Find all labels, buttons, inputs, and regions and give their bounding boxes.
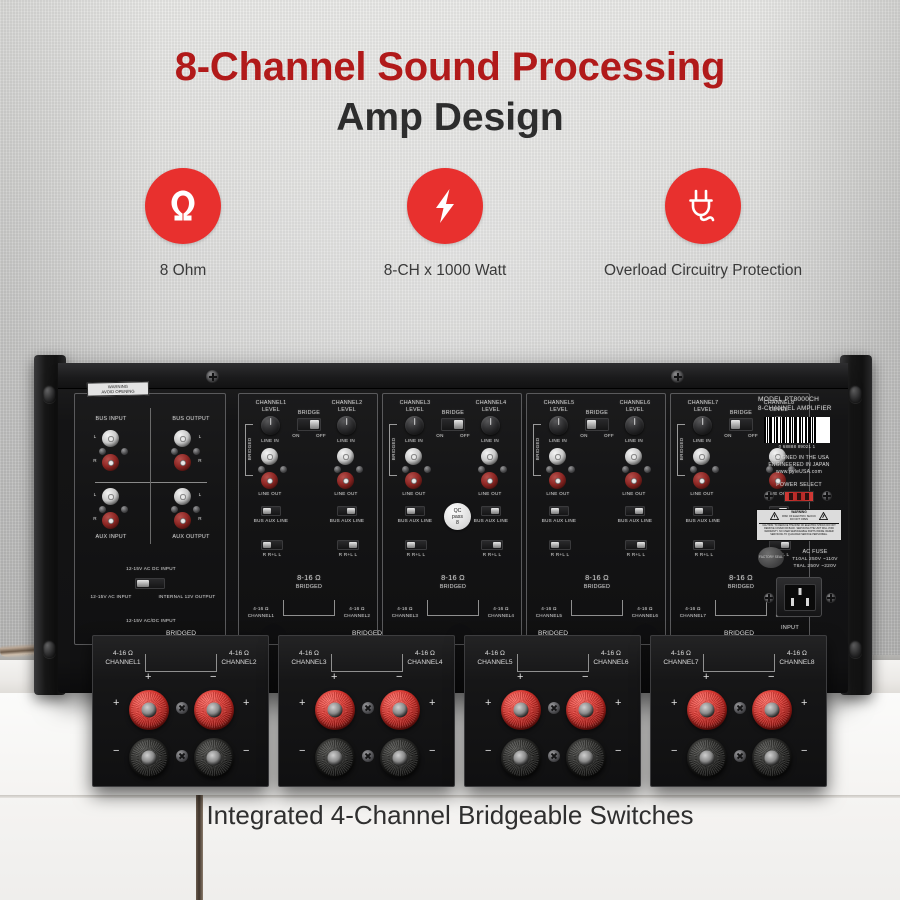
jack-screw [546,466,553,473]
terminal-screw [734,702,746,714]
bridged-plus-sign: + [145,672,151,683]
bus-aux-line-label: BUS AUX LINE [323,518,371,524]
line-in-label: LINE IN [545,438,571,444]
bridged-impedance-label: 8-16 Ω [561,574,633,583]
channel-6-line-out-jack[interactable] [625,472,642,489]
channel-5-level-knob[interactable] [549,416,568,435]
channel-7-negative-binding-post[interactable] [687,738,727,778]
acdc-input-label: 12-15V AC/DC INPUT [95,618,207,624]
left-impedance-label: 4-16 Ω [97,650,149,658]
right-channel-label: CHANNEL4 [399,659,451,667]
channel-1-plus-sign: + [113,698,119,709]
channel-4-line-in-jack[interactable] [481,448,498,465]
line-in-label: LINE IN [257,438,283,444]
left-channel-label: CHANNEL5 [469,659,521,667]
feature-overload-protection: Overload Circuitry Protection [588,168,818,281]
terminal-screw [734,750,746,762]
channel-1-level-knob[interactable] [261,416,280,435]
speaker-terminal-block-5-6: BRIDGED 4-16 Ω CHANNEL5 4-16 Ω CHANNEL6 … [464,635,641,787]
bridged-bracket-line [331,654,403,672]
aux-input-label: AUX INPUT [91,534,131,541]
jack-screw [258,466,265,473]
channel-3-minus-sign: − [299,746,305,757]
headline-line-1: 8-Channel Sound Processing [0,42,900,92]
headline-block: 8-Channel Sound Processing Amp Design [0,42,900,144]
line-out-label: LINE OUT [545,491,571,497]
rack-mount-hole [849,640,862,658]
jack-screw [193,448,200,455]
channel-6-minus-sign: − [615,746,621,757]
rl-switch-label: R R+L L [615,552,657,558]
bus-aux-line-switch[interactable] [693,506,713,516]
bus-aux-line-switch[interactable] [337,506,357,516]
line-out-label: LINE OUT [689,491,715,497]
terminal-screw [176,750,188,762]
channel-left-label: CHANNEL1 [245,400,297,407]
iec-socket-opening [784,584,816,611]
channel-7-positive-binding-post[interactable] [687,690,727,730]
right-channel-label: CHANNEL2 [213,659,265,667]
chassis-screw [206,370,219,383]
speaker-terminal-row: BRIDGED 4-16 Ω CHANNEL1 4-16 Ω CHANNEL2 … [92,635,836,787]
bus-output-label: BUS OUTPUT [169,416,213,423]
jack-screw [712,466,719,473]
fuse-rating-110v: T10AL 250V ~110V [780,557,850,564]
jack-screw [334,466,341,473]
bridged-label: BRIDGED [141,630,221,638]
channel-7-plus-sign: + [671,698,677,709]
right-impedance-label: 4-16 Ω [339,606,375,612]
left-impedance-label: 4-16 Ω [675,606,711,612]
bridged-vertical-label: BRIDGED [535,429,541,469]
feature-row: 8 Ohm 8-CH x 1000 Watt Overload Circuitr… [0,168,900,318]
channel-5-line-out-jack[interactable] [549,472,566,489]
channel-1-minus-sign: − [113,746,119,757]
left-channel-label: CHANNEL5 [531,613,567,619]
bridged-bracket-line [145,654,217,672]
bus-input-l-label: L [91,434,99,440]
feature-label: 8 Ohm [68,260,298,281]
channel-6-negative-binding-post[interactable] [566,738,606,778]
bridged-label: BRIDGED [705,584,777,591]
rl-mode-switch[interactable] [261,540,283,550]
right-channel-label: CHANNEL6 [585,659,637,667]
bus-output-r-rca-jack[interactable] [174,454,191,471]
jack-screw [99,506,106,513]
line-in-label: LINE IN [689,438,715,444]
bridge-label: BRIDGE [289,410,329,417]
line-in-label: LINE IN [401,438,427,444]
plate-screw [764,491,774,501]
avoid-opening-warning-sticker: WARNING AVOID OPENING [87,381,149,396]
right-channel-label: CHANNEL8 [771,659,823,667]
terminal-screw [548,750,560,762]
right-channel-label: CHANNEL4 [483,613,519,619]
bus-output-l-rca-jack[interactable] [174,430,191,447]
barcode [764,417,830,443]
right-channel-label: CHANNEL2 [339,613,375,619]
channel-5-negative-binding-post[interactable] [501,738,541,778]
io-panel: WARNING AVOID OPENING BUS INPUT BUS OUTP… [74,393,226,645]
channel-left-label: CHANNEL3 [389,400,441,407]
ohm-icon [161,184,205,228]
channel-4-positive-binding-post[interactable] [380,690,420,730]
inlet-screw [764,593,774,603]
jack-screw [99,448,106,455]
aux-input-r-label: R [91,516,99,522]
channel-3-positive-binding-post[interactable] [315,690,355,730]
bridged-label: BRIDGED [561,584,633,591]
jack-screw [193,506,200,513]
bus-aux-line-label: BUS AUX LINE [679,518,727,524]
bridge-switch[interactable] [441,418,465,431]
ac-input-label: 12-15V AC INPUT [83,594,139,600]
rl-switch-label: R R+L L [395,552,437,558]
right-channel-label: CHANNEL6 [627,613,663,619]
feature-label: Overload Circuitry Protection [588,260,818,281]
bridged-vertical-label: BRIDGED [391,429,397,469]
right-impedance-label: 4-16 Ω [399,650,451,658]
channel-module-5-6: CHANNEL5 LEVEL CHANNEL6 LEVEL BRIDGE ON … [526,393,666,645]
channel-5-positive-binding-post[interactable] [501,690,541,730]
jack-screw [402,466,409,473]
line-out-label: LINE OUT [401,491,427,497]
io-panel-vertical-divider [150,408,151,544]
speaker-terminal-block-3-4: BRIDGED 4-16 Ω CHANNEL3 4-16 Ω CHANNEL4 … [278,635,455,787]
channel-8-plus-sign: + [801,698,807,709]
terminal-screw [362,702,374,714]
bridge-on-label: ON [433,433,447,439]
speaker-terminal-block-1-2: BRIDGED 4-16 Ω CHANNEL1 4-16 Ω CHANNEL2 … [92,635,269,787]
channel-3-plus-sign: + [299,698,305,709]
bridged-impedance-label: 8-16 Ω [417,574,489,583]
terminal-screw [176,702,188,714]
engineered-in-japan-label: ENGINEERED IN JAPAN [756,462,842,469]
bridged-minus-sign: − [396,672,402,683]
channel-3-line-in-jack[interactable] [405,448,422,465]
aux-output-label: AUX OUTPUT [169,534,213,541]
bridge-off-label: OFF [745,433,761,439]
warning-triangle-icon [770,512,779,520]
channel-3-negative-binding-post[interactable] [315,738,355,778]
bus-aux-line-switch[interactable] [261,506,281,516]
power-plug-icon [681,184,725,228]
channel-5-line-in-jack[interactable] [549,448,566,465]
bus-aux-line-switch[interactable] [481,506,501,516]
line-in-label: LINE IN [333,438,359,444]
channel-4-plus-sign: + [429,698,435,709]
model-subtitle-label: 8-CHANNEL AMPLIFIER [758,406,878,413]
headline-line-2: Amp Design [0,92,900,144]
rack-mount-hole [43,385,56,403]
bridged-bracket-line [571,600,623,616]
bridged-bracket-line [703,654,775,672]
channel-2-minus-sign: − [243,746,249,757]
bridged-label: BRIDGED [699,630,779,638]
channel-6-line-in-jack[interactable] [625,448,642,465]
channel-left-label: CHANNEL5 [533,400,585,407]
bridged-vertical-label: BRIDGED [679,429,685,469]
bridged-bracket-line [283,600,335,616]
bridged-label: BRIDGED [273,584,345,591]
bus-input-label: BUS INPUT [91,416,131,423]
bridge-label: BRIDGE [433,410,473,417]
left-channel-label: CHANNEL7 [655,659,707,667]
aux-input-l-label: L [91,492,99,498]
bridged-bracket-line [715,600,767,616]
line-in-label: LINE IN [621,438,647,444]
bridged-plus-sign: + [331,672,337,683]
speaker-terminal-block-7-8: BRIDGED 4-16 Ω CHANNEL7 4-16 Ω CHANNEL8 … [650,635,827,787]
feature-power-output: 8-CH x 1000 Watt [330,168,560,281]
jack-screw [478,466,485,473]
jack-screw [424,466,431,473]
left-channel-label: CHANNEL1 [243,613,279,619]
terminal-screw [548,702,560,714]
bus-input-r-rca-jack[interactable] [102,454,119,471]
jack-screw [568,466,575,473]
channel-2-line-in-jack[interactable] [337,448,354,465]
rl-mode-switch[interactable] [337,540,359,550]
line-out-label: LINE OUT [477,491,503,497]
jack-screw [121,506,128,513]
bridge-on-label: ON [577,433,591,439]
channel-7-line-out-jack[interactable] [693,472,710,489]
fuse-rating-220v: T8AL 250V ~220V [780,564,850,571]
cabinet-seam [0,795,900,798]
channel-8-positive-binding-post[interactable] [752,690,792,730]
bridged-plus-sign: + [517,672,523,683]
line-in-label: LINE IN [477,438,503,444]
amplifier-rear-panel: WARNING AVOID OPENING BUS INPUT BUS OUTP… [34,355,872,795]
right-impedance-label: 4-16 Ω [483,606,519,612]
left-channel-label: CHANNEL7 [675,613,711,619]
channel-8-negative-binding-post[interactable] [752,738,792,778]
jack-screw [121,448,128,455]
designed-in-usa-label: DESIGNED IN THE USA [756,455,842,462]
feature-8-ohm: 8 Ohm [68,168,298,281]
chassis-screw [671,370,684,383]
channel-4-line-out-jack[interactable] [481,472,498,489]
chassis-top-edge [58,363,848,389]
jack-screw [500,466,507,473]
channel-6-plus-sign: + [615,698,621,709]
jack-screw [622,466,629,473]
channel-1-negative-binding-post[interactable] [129,738,169,778]
bus-output-l-label: L [196,434,204,440]
channel-1-positive-binding-post[interactable] [129,690,169,730]
aux-output-l-label: L [196,492,204,498]
left-impedance-label: 4-16 Ω [283,650,335,658]
jack-screw [280,466,287,473]
website-label: www.pyleUSA.com [756,469,842,476]
aux-output-l-rca-jack[interactable] [174,488,191,505]
channel-module-1-2: CHANNEL1 LEVEL CHANNEL2 LEVEL BRIDGE ON … [238,393,378,645]
channel-1-line-in-jack[interactable] [261,448,278,465]
power-plug-icon-badge [665,168,741,244]
left-impedance-label: 4-16 Ω [655,650,707,658]
left-channel-label: CHANNEL1 [97,659,149,667]
channel-6-positive-binding-post[interactable] [566,690,606,730]
dc-input-label: 12-15V AC DC INPUT [115,566,187,572]
bridged-label: BRIDGED [327,630,407,638]
left-impedance-label: 4-16 Ω [469,650,521,658]
channel-8-minus-sign: − [801,746,807,757]
bottom-caption: Integrated 4-Channel Bridgeable Switches [0,800,900,831]
channel-2-level-knob[interactable] [337,416,356,435]
plate-screw [822,491,832,501]
bridge-label: BRIDGE [721,410,761,417]
feature-label: 8-CH x 1000 Watt [330,260,560,281]
internal-12v-output-label: INTERNAL 12V OUTPUT [157,594,217,600]
left-channel-label: CHANNEL3 [283,659,335,667]
bridged-plus-sign: + [703,672,709,683]
bridged-bracket-line [517,654,589,672]
bus-aux-line-label: BUS AUX LINE [467,518,515,524]
channel-2-line-out-jack[interactable] [337,472,354,489]
bus-aux-line-label: BUS AUX LINE [391,518,439,524]
bridge-on-label: ON [289,433,303,439]
bridge-switch[interactable] [297,418,321,431]
right-impedance-label: 4-16 Ω [771,650,823,658]
ac-fuse-label: AC FUSE [786,549,844,556]
electric-shock-warning-label: WARNING RISK OF ELECTRIC SHOCK DO NOT OP… [756,509,842,541]
channel-2-negative-binding-post[interactable] [194,738,234,778]
safety-warning-body: CAUTION: TO REDUCE THE RISK OF ELECTRIC … [759,523,839,537]
rl-switch-label: R R+L L [327,552,369,558]
lightning-bolt-icon [424,185,466,227]
iec-power-inlet[interactable] [776,577,822,617]
bus-aux-line-switch[interactable] [405,506,425,516]
bridge-off-label: OFF [457,433,473,439]
qc-pass-sticker: QC pass 8 [444,503,471,530]
channel-4-negative-binding-post[interactable] [380,738,420,778]
bus-aux-line-label: BUS AUX LINE [247,518,295,524]
aux-input-l-rca-jack[interactable] [102,488,119,505]
left-impedance-label: 4-16 Ω [531,606,567,612]
jack-screw [171,448,178,455]
bridged-minus-sign: − [768,672,774,683]
channel-right-label: CHANNEL2 [321,400,373,407]
channel-left-label: CHANNEL7 [677,400,729,407]
rl-switch-label: R R+L L [251,552,293,558]
rl-switch-label: R R+L L [471,552,513,558]
aux-input-r-rca-jack[interactable] [102,512,119,529]
channel-2-positive-binding-post[interactable] [194,690,234,730]
bridge-off-label: OFF [313,433,329,439]
channel-right-label: CHANNEL4 [465,400,517,407]
rl-mode-switch[interactable] [405,540,427,550]
channel-4-level-knob[interactable] [481,416,500,435]
rack-mount-hole [43,640,56,658]
aux-output-r-rca-jack[interactable] [174,512,191,529]
rl-switch-label: R R+L L [539,552,581,558]
terminal-screw [362,750,374,762]
bus-aux-line-switch[interactable] [549,506,569,516]
channel-5-minus-sign: − [485,746,491,757]
bridged-bracket-line [427,600,479,616]
channel-4-minus-sign: − [429,746,435,757]
model-number-label: MODEL PT8000CH [758,397,878,404]
line-out-label: LINE OUT [333,491,359,497]
bridge-off-label: OFF [601,433,617,439]
ac-dc-input-switch[interactable] [135,578,165,589]
left-impedance-label: 4-16 Ω [243,606,279,612]
bridged-minus-sign: − [210,672,216,683]
bridged-vertical-label: BRIDGED [247,429,253,469]
channel-2-plus-sign: + [243,698,249,709]
channel-3-level-knob[interactable] [405,416,424,435]
rl-mode-switch[interactable] [481,540,503,550]
rl-mode-switch[interactable] [549,540,571,550]
channel-5-plus-sign: + [485,698,491,709]
barcode-number: 0 68888 89021 1 [758,444,836,451]
line-out-label: LINE OUT [621,491,647,497]
left-channel-label: CHANNEL3 [387,613,423,619]
rl-switch-label: R R+L L [683,552,725,558]
bus-aux-line-label: BUS AUX LINE [535,518,583,524]
right-impedance-label: 4-16 Ω [627,606,663,612]
aux-output-r-label: R [196,516,204,522]
rl-mode-switch[interactable] [693,540,715,550]
channel-6-level-knob[interactable] [625,416,644,435]
channel-3-line-out-jack[interactable] [405,472,422,489]
bridged-minus-sign: − [582,672,588,683]
bridge-switch[interactable] [585,418,609,431]
jack-screw [690,466,697,473]
line-out-label: LINE OUT [257,491,283,497]
ohm-icon-badge [145,168,221,244]
channel-7-minus-sign: − [671,746,677,757]
io-panel-divider [95,482,207,483]
channel-right-label: CHANNEL6 [609,400,661,407]
right-impedance-label: 4-16 Ω [585,650,637,658]
channel-7-level-knob[interactable] [693,416,712,435]
warning-triangle-icon [819,512,828,520]
jack-screw [644,466,651,473]
bus-input-r-label: R [91,458,99,464]
bus-aux-line-switch[interactable] [625,506,645,516]
jack-screw [171,506,178,513]
power-select-switch[interactable] [784,491,814,502]
channel-1-line-out-jack[interactable] [261,472,278,489]
bridge-label: BRIDGE [577,410,617,417]
inlet-screw [826,593,836,603]
bridge-on-label: ON [721,433,735,439]
bus-aux-line-label: BUS AUX LINE [611,518,659,524]
right-impedance-label: 4-16 Ω [213,650,265,658]
rl-mode-switch[interactable] [625,540,647,550]
jack-screw [356,466,363,473]
bridged-label: BRIDGED [513,630,593,638]
left-impedance-label: 4-16 Ω [387,606,423,612]
bridged-impedance-label: 8-16 Ω [705,574,777,583]
bridged-impedance-label: 8-16 Ω [273,574,345,583]
bus-output-r-label: R [196,458,204,464]
lightning-bolt-icon-badge [407,168,483,244]
power-select-label: POWER SELECT [756,482,842,489]
bus-input-l-rca-jack[interactable] [102,430,119,447]
bridged-label: BRIDGED [417,584,489,591]
channel-7-line-in-jack[interactable] [693,448,710,465]
bridge-switch[interactable] [729,418,753,431]
